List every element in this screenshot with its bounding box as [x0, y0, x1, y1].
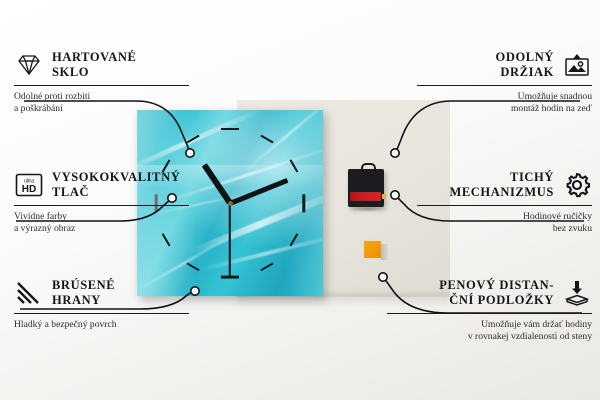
product-infographic: HARTOVANÉ SKLO Odolné proti rozbití a po… — [0, 0, 600, 400]
clock-tick — [303, 194, 306, 212]
clock-tick — [260, 263, 273, 272]
feature-divider — [14, 205, 189, 206]
feature-title: PENOVÝ DISTAN- ČNÍ PODLOŽKY — [439, 278, 554, 308]
feature-heading: PENOVÝ DISTAN- ČNÍ PODLOŽKY — [387, 278, 592, 308]
feature-title: ODOLNÝ DRŽIAK — [496, 50, 554, 80]
feature-divider — [417, 85, 592, 86]
svg-text:HD: HD — [22, 184, 36, 195]
picture-hanger-icon — [562, 50, 592, 80]
feature-subtitle: Vivídne farby a výrazný obraz — [14, 211, 189, 236]
clock-tick — [260, 135, 273, 144]
foam-spacer-icon — [562, 278, 592, 308]
feature-heading: TICHÝ MECHANIZMUS — [417, 170, 592, 200]
clock-center-cap — [228, 201, 233, 206]
clock-mechanism — [348, 169, 384, 207]
foam-spacer-pad-side — [381, 244, 388, 260]
diamond-icon — [14, 50, 44, 80]
feature-title: BRÚSENÉ HRANY — [52, 278, 115, 308]
ultra-hd-badge-icon: ultra HD — [14, 170, 44, 200]
feature-subtitle: Hodinové ručičky bez zvuku — [417, 211, 592, 236]
feature-heading: ODOLNÝ DRŽIAK — [417, 50, 592, 80]
clock-tick — [221, 128, 239, 131]
battery-terminal — [382, 194, 386, 199]
mechanism-shadow — [350, 206, 384, 212]
feature-divider — [417, 205, 592, 206]
polished-edges-icon — [14, 278, 44, 308]
feature-title: VYSOKOKVALITNÝ TLAČ — [52, 170, 180, 200]
feature-heading: HARTOVANÉ SKLO — [14, 50, 189, 80]
gear-icon — [562, 170, 592, 200]
feature-heading: BRÚSENÉ HRANY — [14, 278, 189, 308]
feature-foam-spacers: PENOVÝ DISTAN- ČNÍ PODLOŽKY Umožňuje vám… — [387, 278, 592, 344]
feature-subtitle: Odolné proti rozbití a poškrábání — [14, 91, 189, 116]
feature-subtitle: Hladký a bezpečný povrch — [14, 319, 189, 331]
mechanism-hanger-icon — [361, 163, 376, 173]
foam-spacer-pad — [364, 241, 381, 258]
clock-tick — [221, 276, 239, 279]
feature-subtitle: Umožňuje vám držať hodiny v rovnakej vzd… — [387, 319, 592, 344]
feature-divider — [14, 85, 189, 86]
clock-second-hand — [229, 203, 231, 275]
feature-hd-print: ultra HD VYSOKOKVALITNÝ TLAČ Vivídne far… — [14, 170, 189, 236]
feature-mechanism: TICHÝ MECHANIZMUS Hodinové ručičky bez z… — [417, 170, 592, 236]
feature-title: TICHÝ MECHANIZMUS — [449, 170, 554, 200]
feature-divider — [14, 313, 189, 314]
feature-heading: ultra HD VYSOKOKVALITNÝ TLAČ — [14, 170, 189, 200]
feature-polished-edges: BRÚSENÉ HRANY Hladký a bezpečný povrch — [14, 278, 189, 331]
feature-hanger: ODOLNÝ DRŽIAK Umožňuje snadnou montáž ho… — [417, 50, 592, 116]
feature-subtitle: Umožňuje snadnou montáž hodin na zeď — [417, 91, 592, 116]
feature-hardened-glass: HARTOVANÉ SKLO Odolné proti rozbití a po… — [14, 50, 189, 116]
feature-divider — [387, 313, 592, 314]
feature-title: HARTOVANÉ SKLO — [52, 50, 136, 80]
battery — [350, 192, 381, 201]
